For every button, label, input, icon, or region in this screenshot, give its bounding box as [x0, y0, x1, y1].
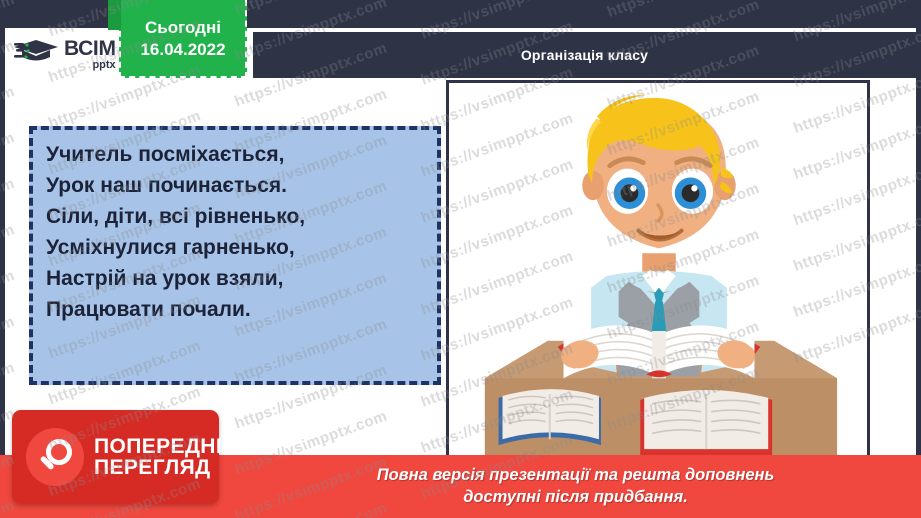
poem-line: Сіли, діти, всі рівненько,	[46, 202, 429, 233]
logo-text: ВСІМ	[64, 38, 116, 59]
poem-line: Урок наш починається.	[46, 171, 429, 202]
poem-line: Настрій на урок взяли,	[46, 264, 429, 295]
magnifier-icon	[26, 428, 84, 486]
poem-line: Працювати почали.	[46, 295, 429, 326]
banner-text-block: Повна версія презентації та решта доповн…	[377, 465, 775, 507]
presentation-slide: ВСІМ pptx Сьогодні 16.04.2022 Організаці…	[0, 0, 921, 518]
preview-badge-line-2: ПЕРЕГЛЯД	[94, 457, 238, 478]
page-title: Організація класу	[521, 47, 648, 63]
poem-line: Усміхнулися гарненько,	[46, 233, 429, 264]
banner-line-2: доступні після придбання.	[377, 487, 775, 508]
illustration-frame	[446, 80, 870, 458]
schoolboy-reading-illustration	[449, 83, 867, 455]
logo-subtext: pptx	[64, 60, 116, 71]
graduation-cap-icon	[14, 37, 60, 71]
date-label: Сьогодні	[145, 19, 221, 36]
slide-header-bar: Організація класу	[253, 32, 916, 78]
poem-line: Учитель посміхається,	[46, 140, 429, 171]
date-value: 16.04.2022	[140, 41, 225, 58]
date-badge: Сьогодні 16.04.2022	[119, 0, 247, 78]
banner-line-1: Повна версія презентації та решта доповн…	[377, 465, 775, 486]
poem-text-box: Учитель посміхається, Урок наш починаєть…	[29, 126, 441, 385]
preview-badge-line-1: ПОПЕРЕДНІЙ	[94, 436, 238, 457]
preview-badge[interactable]: ПОПЕРЕДНІЙ ПЕРЕГЛЯД	[12, 410, 219, 504]
